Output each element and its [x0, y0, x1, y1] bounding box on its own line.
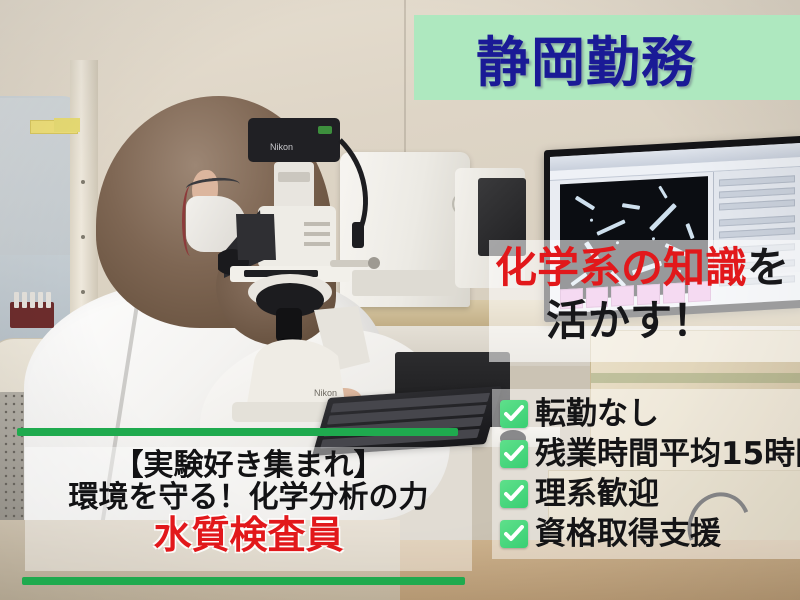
- slogan-line-1-suffix: を: [747, 243, 789, 292]
- recruitment-poster: Nikon: [0, 0, 800, 600]
- divider-rule-bottom: [22, 577, 465, 585]
- checklist-item-label: 残業時間平均15時間: [535, 439, 800, 470]
- checklist: 転勤なし 残業時間平均15時間 理系歓迎: [500, 394, 800, 554]
- checkbox-checked-icon: [500, 520, 528, 548]
- slogan-line-1: 化学系の知識を: [495, 247, 789, 289]
- checklist-item-label: 転勤なし: [535, 399, 659, 430]
- list-item: 理系歓迎: [500, 474, 800, 514]
- title-banner: 静岡勤務: [414, 15, 800, 100]
- checklist-item-label: 理系歓迎: [535, 479, 659, 510]
- checkbox-checked-icon: [500, 400, 528, 428]
- slogan-highlight-text: 化学系の知識: [495, 243, 747, 292]
- checklist-item-label: 資格取得支援: [535, 519, 721, 550]
- job-title: 水質検査員: [153, 515, 343, 555]
- slogan-line-2: 活かす！: [546, 300, 714, 342]
- bottom-tagline-2: 環境を守る！化学分析の力: [69, 482, 429, 514]
- divider-rule-top: [17, 428, 458, 436]
- list-item: 資格取得支援: [500, 514, 800, 554]
- list-item: 転勤なし: [500, 394, 800, 434]
- checkbox-checked-icon: [500, 480, 528, 508]
- list-item: 残業時間平均15時間: [500, 434, 800, 474]
- checkbox-checked-icon: [500, 440, 528, 468]
- bottom-text-block: 【実験好き集まれ】 環境を守る！化学分析の力 水質検査員: [25, 447, 472, 571]
- bottom-tagline-1: 【実験好き集まれ】: [114, 450, 384, 482]
- title-banner-text: 静岡勤務: [476, 18, 696, 97]
